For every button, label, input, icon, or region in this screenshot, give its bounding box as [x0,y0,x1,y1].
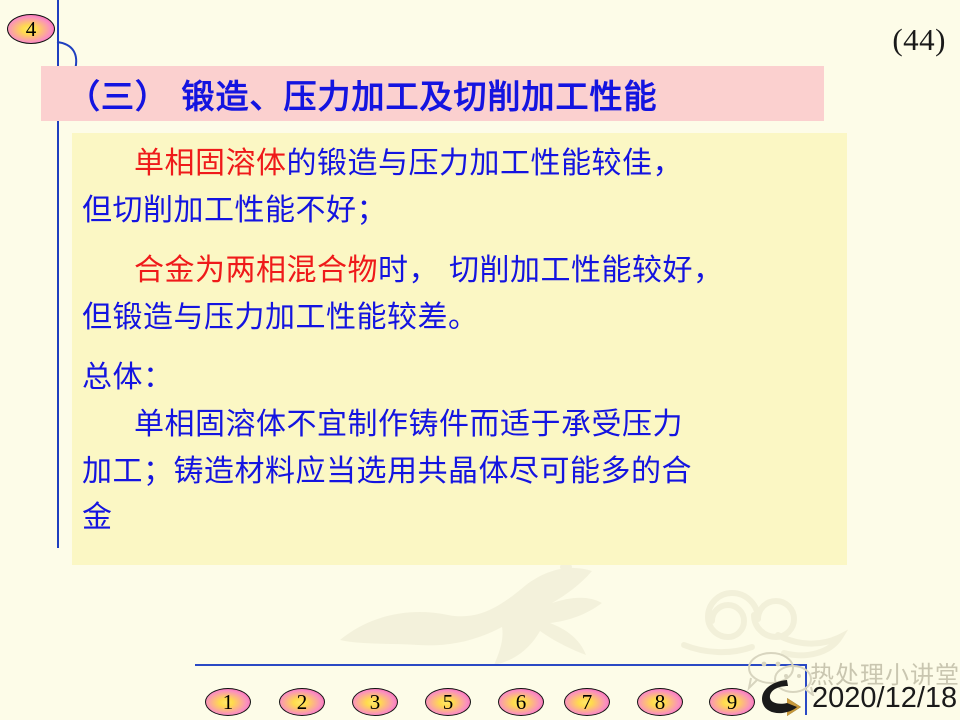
nav-button-2[interactable]: 2 [279,688,325,716]
curved-return-arrow-icon[interactable] [757,676,803,716]
paragraph-text: 金 [82,500,113,535]
slide-content-box: 单相固溶体的锻造与压力加工性能较佳，但切削加工性能不好；合金为两相混合物时， 切… [72,133,847,565]
nav-button-9[interactable]: 9 [709,688,755,716]
content-paragraph: 合金为两相混合物时， 切削加工性能较好， [82,250,833,293]
content-paragraph: 金 [82,497,833,540]
dragon-watermark-icon [330,545,670,680]
slide-number-badge[interactable]: 4 [7,14,55,44]
nav-button-7[interactable]: 7 [564,688,610,716]
paragraph-text: 的锻造与压力加工性能较佳， [287,146,684,181]
paragraph-gap [82,236,833,250]
footer-vertical-rule [805,664,807,715]
footer-horizontal-rule [195,664,805,666]
nav-button-5[interactable]: 5 [425,688,471,716]
content-paragraph: 但锻造与压力加工性能较差。 [82,297,833,340]
highlighted-term: 合金为两相混合物 [134,253,378,288]
paragraph-gap [82,343,833,357]
content-paragraph: 总体： [82,357,833,400]
footer-date: 2020/12/18 [812,682,957,715]
paragraph-text: 但锻造与压力加工性能较差。 [82,300,479,335]
presentation-slide: 4 (44) （三） 锻造、压力加工及切削加工性能 单相固溶体的锻造与压力加工性… [0,0,960,720]
content-paragraph: 单相固溶体的锻造与压力加工性能较佳， [82,143,833,186]
page-number: (44) [892,22,946,58]
nav-button-8[interactable]: 8 [637,688,683,716]
highlighted-term: 单相固溶体 [134,146,287,181]
nav-button-1[interactable]: 1 [205,688,251,716]
paragraph-text: 总体： [82,360,174,395]
slide-title: （三） 锻造、压力加工及切削加工性能 [41,70,658,118]
paragraph-text: 时， 切削加工性能较好， [378,253,724,288]
auspicious-cloud-watermark-icon [660,575,860,665]
nav-button-6[interactable]: 6 [498,688,544,716]
content-paragraph: 单相固溶体不宜制作铸件而适于承受压力 [82,404,833,447]
paragraph-text: 加工；铸造材料应当选用共晶体尽可能多的合 [82,454,692,489]
slide-title-band: （三） 锻造、压力加工及切削加工性能 [41,66,824,121]
paragraph-text: 单相固溶体不宜制作铸件而适于承受压力 [134,407,683,442]
content-paragraph: 加工；铸造材料应当选用共晶体尽可能多的合 [82,451,833,494]
paragraph-text: 但切削加工性能不好； [82,193,387,228]
nav-button-3[interactable]: 3 [352,688,398,716]
content-paragraph: 但切削加工性能不好； [82,190,833,233]
